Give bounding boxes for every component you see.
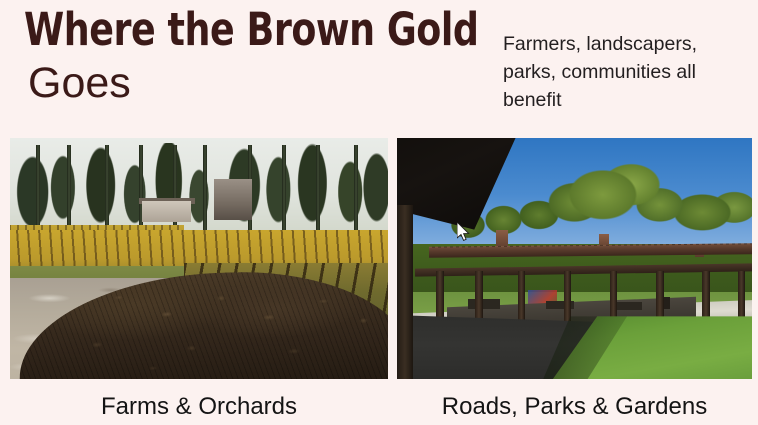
title-line-primary: Where the Brown Gold xyxy=(24,4,438,56)
winery-building xyxy=(214,179,252,220)
overhang-post xyxy=(397,205,413,379)
subtitle-text: Farmers, landscapers, parks, communities… xyxy=(503,30,753,114)
slide-canvas: Where the Brown Gold Goes Farmers, lands… xyxy=(0,0,758,425)
caption-roads-parks-gardens: Roads, Parks & Gardens xyxy=(397,392,752,422)
caption-farms-orchards: Farms & Orchards xyxy=(10,392,388,422)
picnic-table xyxy=(617,302,642,310)
photo-roads-parks-gardens xyxy=(397,138,752,379)
page-title: Where the Brown Gold Goes xyxy=(24,4,484,108)
picnic-table xyxy=(468,299,500,309)
title-line-secondary: Goes xyxy=(28,58,484,108)
farmhouse xyxy=(142,201,191,223)
photo-farms-orchards xyxy=(10,138,388,379)
